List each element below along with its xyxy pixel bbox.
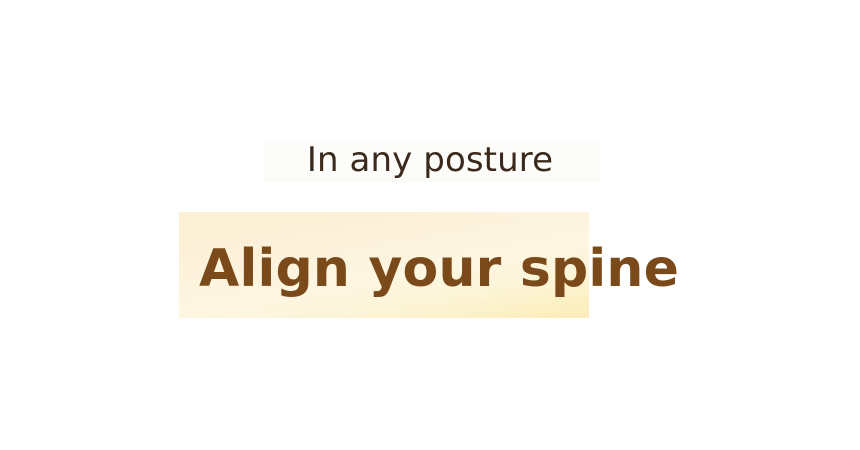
subtitle: In any posture: [0, 134, 860, 186]
headline: Align your spine: [199, 236, 859, 302]
slide-canvas: In any posture Align your spine: [0, 0, 860, 450]
